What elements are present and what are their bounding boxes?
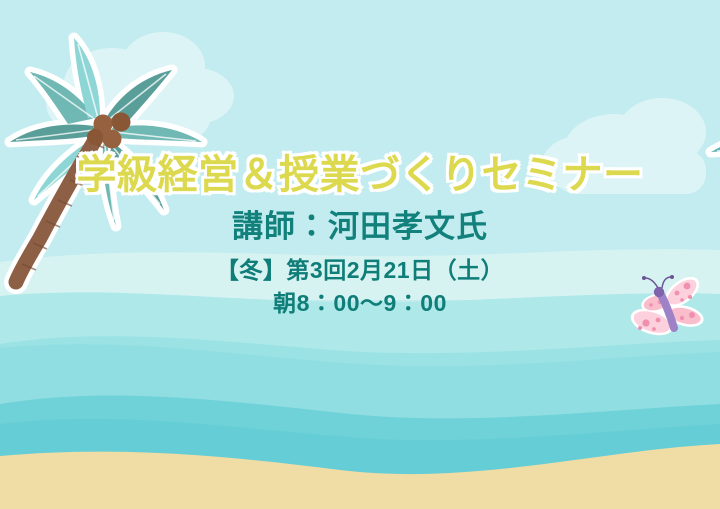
seminar-poster: 学級経営＆授業づくりセミナー 講師：河田孝文氏 【冬】第3回2月21日（土） 朝… <box>0 0 720 509</box>
poster-date-line: 【冬】第3回2月21日（土） <box>0 259 720 282</box>
poster-title: 学級経営＆授業づくりセミナー <box>0 155 720 195</box>
poster-speaker: 講師：河田孝文氏 <box>0 211 720 242</box>
poster-time-line: 朝8：00～9：00 <box>0 292 720 315</box>
beach-scene-illustration <box>0 0 720 509</box>
